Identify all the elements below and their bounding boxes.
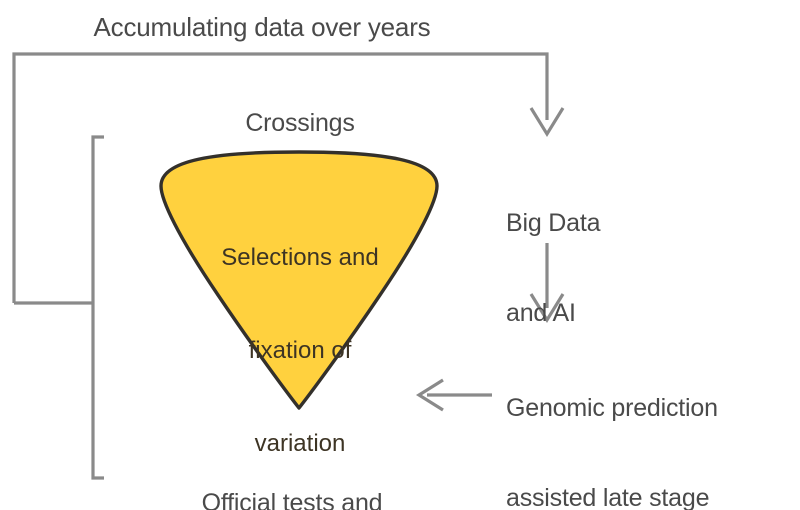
big-data-line-1: Big Data xyxy=(506,208,600,238)
crossings-label: Crossings xyxy=(245,108,354,138)
official-tests-label: Official tests and variety release xyxy=(202,428,383,510)
official-tests-line-1: Official tests and xyxy=(202,488,383,510)
genomic-prediction-line-2: assisted late stage xyxy=(506,483,751,510)
funnel-label-line-1: Selections and xyxy=(221,242,378,273)
diagram-canvas: Accumulating data over years Crossings S… xyxy=(0,0,800,510)
genomic-prediction-line-1: Genomic prediction xyxy=(506,393,751,423)
funnel-label-line-2: fixation of xyxy=(221,335,378,366)
node-genomic-prediction: Genomic prediction assisted late stage p… xyxy=(506,333,751,510)
big-data-line-2: and AI xyxy=(506,298,600,328)
page-title: Accumulating data over years xyxy=(94,12,431,42)
feedback-bracket-inner xyxy=(93,137,104,478)
